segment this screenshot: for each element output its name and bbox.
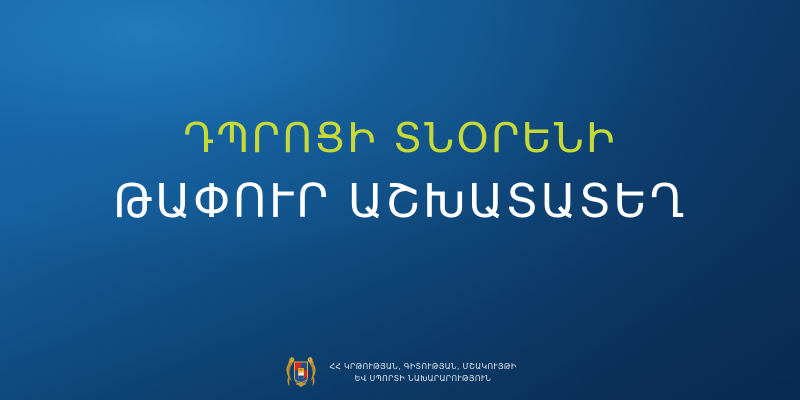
- ministry-name-line-2: ԵՎ ՍՊՈՐՏԻ ՆԱԽԱՐԱՐՈՒԹՅՈՒՆ: [330, 373, 517, 385]
- announcement-banner: ԴՊՐՈՑԻ ՏՆՕՐԵՆԻ ԹԱՓՈՒՐ ԱՇԽԱՏԱՏԵՂ: [0, 0, 800, 400]
- armenia-coat-of-arms-icon: [284, 354, 318, 392]
- headline-block: ԴՊՐՈՑԻ ՏՆՕՐԵՆԻ ԹԱՓՈՒՐ ԱՇԽԱՏԱՏԵՂ: [0, 118, 800, 224]
- headline-line-2: ԹԱՓՈՒՐ ԱՇԽԱՏԱՏԵՂ: [0, 178, 800, 224]
- ministry-name-line-1: ՀՀ ԿՐԹՈՒԹՅԱՆ, ԳԻՏՈՒԹՅԱՆ, ՄՇԱԿՈՒՅԹԻ: [330, 361, 517, 373]
- ministry-footer: ՀՀ ԿՐԹՈՒԹՅԱՆ, ԳԻՏՈՒԹՅԱՆ, ՄՇԱԿՈՒՅԹԻ ԵՎ ՍՊ…: [0, 354, 800, 392]
- headline-line-1: ԴՊՐՈՑԻ ՏՆՕՐԵՆԻ: [0, 118, 800, 159]
- ministry-name: ՀՀ ԿՐԹՈՒԹՅԱՆ, ԳԻՏՈՒԹՅԱՆ, ՄՇԱԿՈՒՅԹԻ ԵՎ ՍՊ…: [330, 361, 517, 385]
